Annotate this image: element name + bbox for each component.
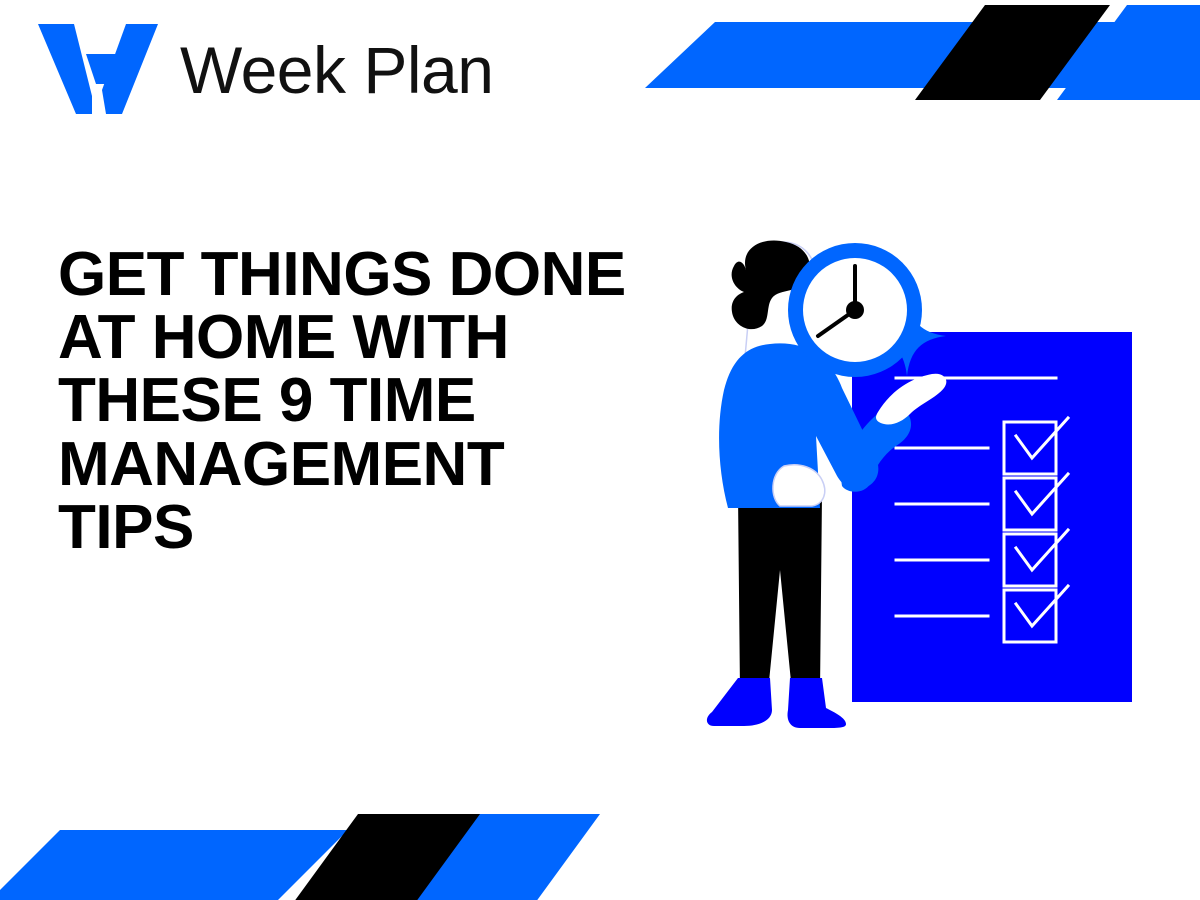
page-title: GET THINGS DONE AT HOME WITH THESE 9 TIM… bbox=[58, 243, 638, 559]
poster-canvas: Week Plan GET THINGS DONE AT HOME WITH T… bbox=[0, 0, 1200, 900]
banner-stripe-blue-long bbox=[0, 830, 348, 900]
top-right-banner bbox=[640, 0, 1200, 110]
banner-stripe-black bbox=[915, 5, 1110, 100]
week-plan-w-logo-icon bbox=[30, 18, 162, 122]
clock-center-pin bbox=[846, 301, 864, 319]
person-shoe-right bbox=[788, 678, 847, 728]
brand-name: Week Plan bbox=[180, 37, 493, 103]
banner-stripe-black bbox=[288, 814, 483, 900]
person-trousers bbox=[738, 494, 822, 692]
bottom-left-banner bbox=[0, 800, 620, 900]
checklist-board bbox=[852, 332, 1132, 702]
wall-clock-icon bbox=[788, 243, 922, 377]
banner-stripe-blue-short bbox=[1057, 5, 1200, 100]
banner-stripe-blue-long bbox=[645, 22, 1200, 88]
banner-stripe-blue-short bbox=[410, 814, 600, 900]
illustration-person-with-checklist bbox=[700, 240, 1190, 760]
person-shoe-left bbox=[707, 678, 772, 726]
brand-header: Week Plan bbox=[30, 18, 493, 122]
